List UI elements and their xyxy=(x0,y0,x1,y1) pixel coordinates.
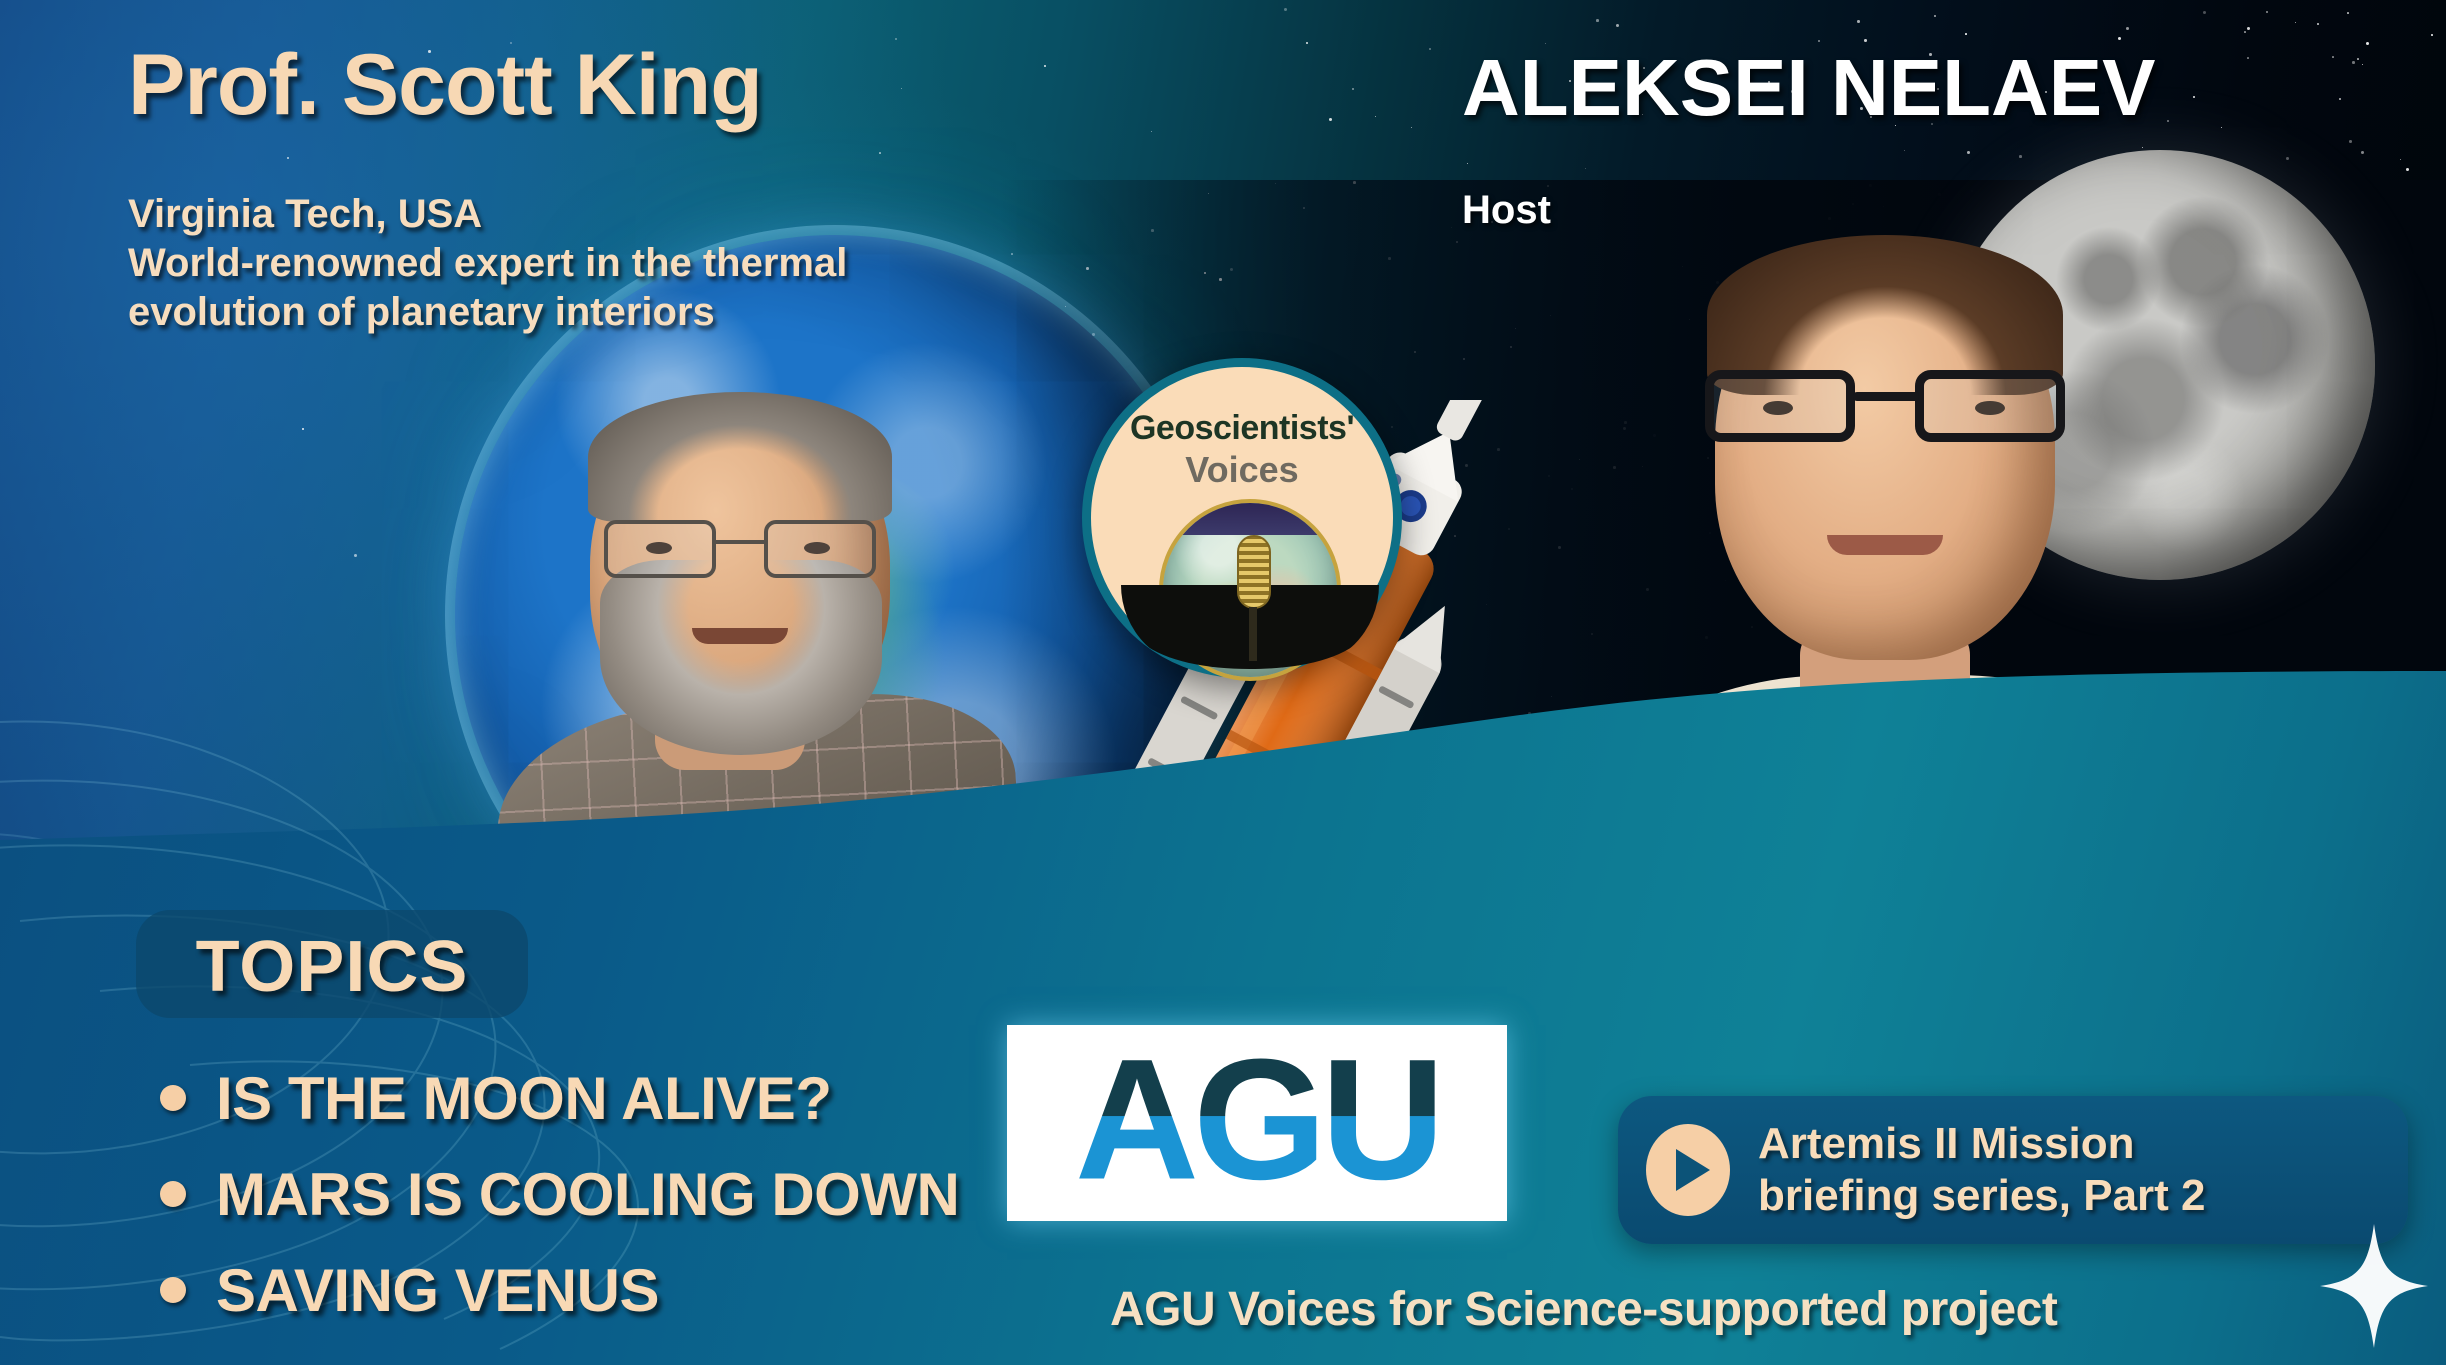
microphone-icon xyxy=(1237,535,1271,609)
agu-logo-text: AGU xyxy=(1075,1034,1439,1206)
agu-logo: AGU xyxy=(1007,1025,1507,1221)
host-glasses-icon xyxy=(1705,370,2065,444)
speaker-lens-right xyxy=(764,520,876,578)
host-mouth xyxy=(1827,535,1943,555)
podcast-logo-badge: Geoscientists' Voices xyxy=(1082,358,1402,678)
speaker-glasses-bridge xyxy=(716,540,768,544)
speaker-hair xyxy=(588,392,892,522)
sparkle-icon xyxy=(2318,1222,2430,1350)
microphone-stand xyxy=(1249,607,1257,661)
speaker-mouth xyxy=(692,628,788,644)
host-lens-left xyxy=(1705,370,1855,442)
globe-top-shade xyxy=(1163,499,1337,535)
podcast-logo-line1: Geoscientists' xyxy=(1091,409,1393,448)
bullet-icon xyxy=(160,1277,186,1303)
list-item: SAVING VENUS xyxy=(160,1242,1260,1338)
topic-label: IS THE MOON ALIVE? xyxy=(216,1064,831,1133)
thumbnail-canvas: Prof. Scott King Virginia Tech, USA Worl… xyxy=(0,0,2446,1365)
podcast-logo-line2: Voices xyxy=(1091,449,1393,491)
speaker-glasses-icon xyxy=(598,520,886,580)
play-triangle xyxy=(1676,1149,1710,1191)
series-callout-text: Artemis II Mission briefing series, Part… xyxy=(1758,1118,2206,1222)
host-role: Host xyxy=(1462,188,1551,233)
bullet-icon xyxy=(160,1181,186,1207)
bullet-icon xyxy=(160,1085,186,1111)
footer-credit: AGU Voices for Science-supported project xyxy=(1110,1282,2057,1337)
speaker-lens-left xyxy=(604,520,716,578)
topic-label: SAVING VENUS xyxy=(216,1256,659,1325)
speaker-affiliation-bio: Virginia Tech, USA World-renowned expert… xyxy=(128,190,847,336)
series-callout-pill: Artemis II Mission briefing series, Part… xyxy=(1618,1096,2408,1244)
host-name: ALEKSEI NELAEV xyxy=(1462,42,2155,134)
host-glasses-bridge xyxy=(1853,392,1919,401)
topics-heading-pill: TOPICS xyxy=(136,910,528,1018)
topic-label: MARS IS COOLING DOWN xyxy=(216,1160,959,1229)
topics-heading-label: TOPICS xyxy=(136,926,528,1008)
speaker-name: Prof. Scott King xyxy=(128,36,762,135)
play-icon xyxy=(1646,1124,1730,1216)
host-lens-right xyxy=(1915,370,2065,442)
